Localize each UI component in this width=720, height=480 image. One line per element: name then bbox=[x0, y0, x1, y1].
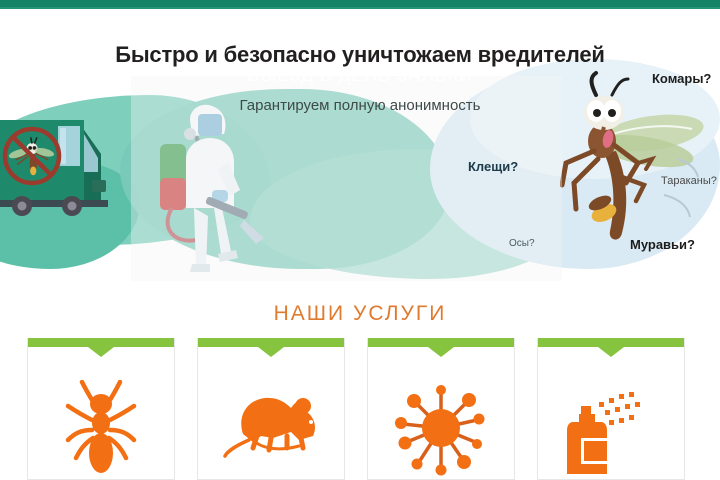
card-accent-bar bbox=[538, 338, 684, 347]
card-notch-chevron-icon bbox=[598, 347, 624, 357]
virus-icon bbox=[368, 380, 514, 480]
pest-label-mosquitoes: Комары? bbox=[652, 71, 711, 86]
card-notch-chevron-icon bbox=[88, 347, 114, 357]
card-accent-bar bbox=[368, 338, 514, 347]
service-card-ant[interactable] bbox=[27, 338, 175, 480]
card-accent-bar bbox=[198, 338, 344, 347]
page-root: Быстро и безопасно уничтожаем вредителей… bbox=[0, 0, 720, 480]
ant-icon bbox=[28, 380, 174, 480]
card-accent-bar bbox=[28, 338, 174, 347]
hero-tagline: Гарантируем полную анонимность bbox=[0, 97, 720, 114]
pest-label-cockroaches: Тараканы? bbox=[661, 175, 717, 187]
spray-can-icon bbox=[538, 380, 684, 480]
rat-icon bbox=[198, 380, 344, 480]
pest-label-ants: Муравьи? bbox=[630, 237, 695, 252]
pest-label-ticks: Клещи? bbox=[468, 159, 518, 174]
hero-subtitle: ВЫЕЗД В ДЕНЬ ЗАЯВКИ bbox=[0, 65, 720, 86]
hero-banner: Быстро и безопасно уничтожаем вредителей… bbox=[0, 9, 720, 265]
service-card-rodent[interactable] bbox=[197, 338, 345, 480]
top-navigation-bar[interactable] bbox=[0, 0, 720, 9]
pest-control-truck-icon bbox=[0, 114, 140, 234]
pest-label-wasps: Осы? bbox=[509, 238, 535, 249]
exterminator-worker-icon bbox=[152, 104, 282, 274]
card-notch-chevron-icon bbox=[258, 347, 284, 357]
services-section-title: НАШИ УСЛУГИ bbox=[0, 302, 720, 326]
card-notch-chevron-icon bbox=[428, 347, 454, 357]
service-card-spraying[interactable] bbox=[537, 338, 685, 480]
service-card-disinfection[interactable] bbox=[367, 338, 515, 480]
services-card-list bbox=[0, 338, 720, 480]
